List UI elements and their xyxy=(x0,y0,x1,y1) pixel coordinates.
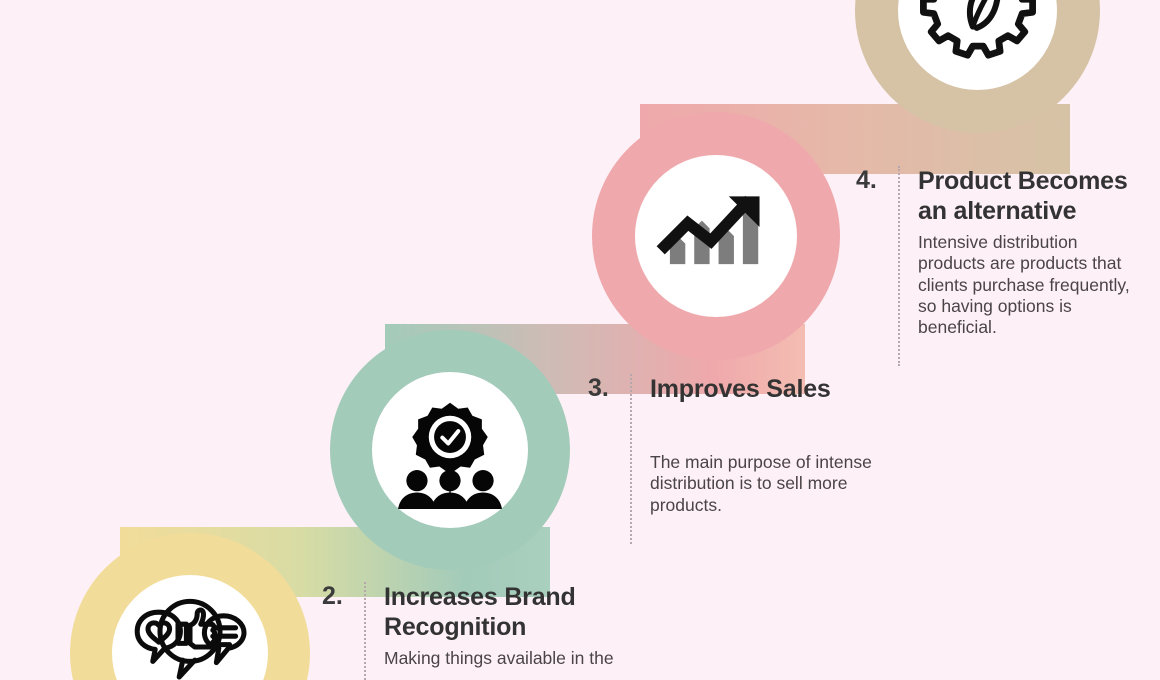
step-divider-4 xyxy=(898,166,900,366)
step-entry-4: 4. Product Becomes an alternative Intens… xyxy=(856,166,1146,366)
gear-leaf-icon xyxy=(913,0,1043,76)
step-description-4: Intensive distribution products are prod… xyxy=(918,232,1146,339)
step-entry-3: 3. Improves Sales The main purpose of in… xyxy=(588,374,918,544)
step-title-2: Increases Brand Recognition xyxy=(384,582,672,642)
step-divider-3 xyxy=(630,374,632,544)
step-text-4: Product Becomes an alternative Intensive… xyxy=(918,166,1146,339)
step-icon-circle-3 xyxy=(635,155,797,317)
step-title-3: Improves Sales xyxy=(650,374,918,404)
step-divider-2 xyxy=(364,582,366,680)
step-text-3: Improves Sales The main purpose of inten… xyxy=(650,374,918,516)
step-number-4: 4. xyxy=(856,166,898,195)
infographic-canvas: 4. Product Becomes an alternative Intens… xyxy=(0,0,1160,680)
social-engagement-icon xyxy=(130,593,250,680)
step-description-2: Making things available in the xyxy=(384,648,672,669)
step-number-3: 3. xyxy=(588,374,630,403)
step-entry-2: 2. Increases Brand Recognition Making th… xyxy=(322,582,672,680)
quality-badge-people-icon xyxy=(391,391,509,509)
step-number-2: 2. xyxy=(322,582,364,611)
step-icon-circle-2 xyxy=(372,372,528,528)
step-title-4: Product Becomes an alternative xyxy=(918,166,1146,226)
growth-chart-icon xyxy=(652,172,780,300)
step-description-3: The main purpose of intense distribution… xyxy=(650,452,918,516)
step-text-2: Increases Brand Recognition Making thing… xyxy=(384,582,672,669)
